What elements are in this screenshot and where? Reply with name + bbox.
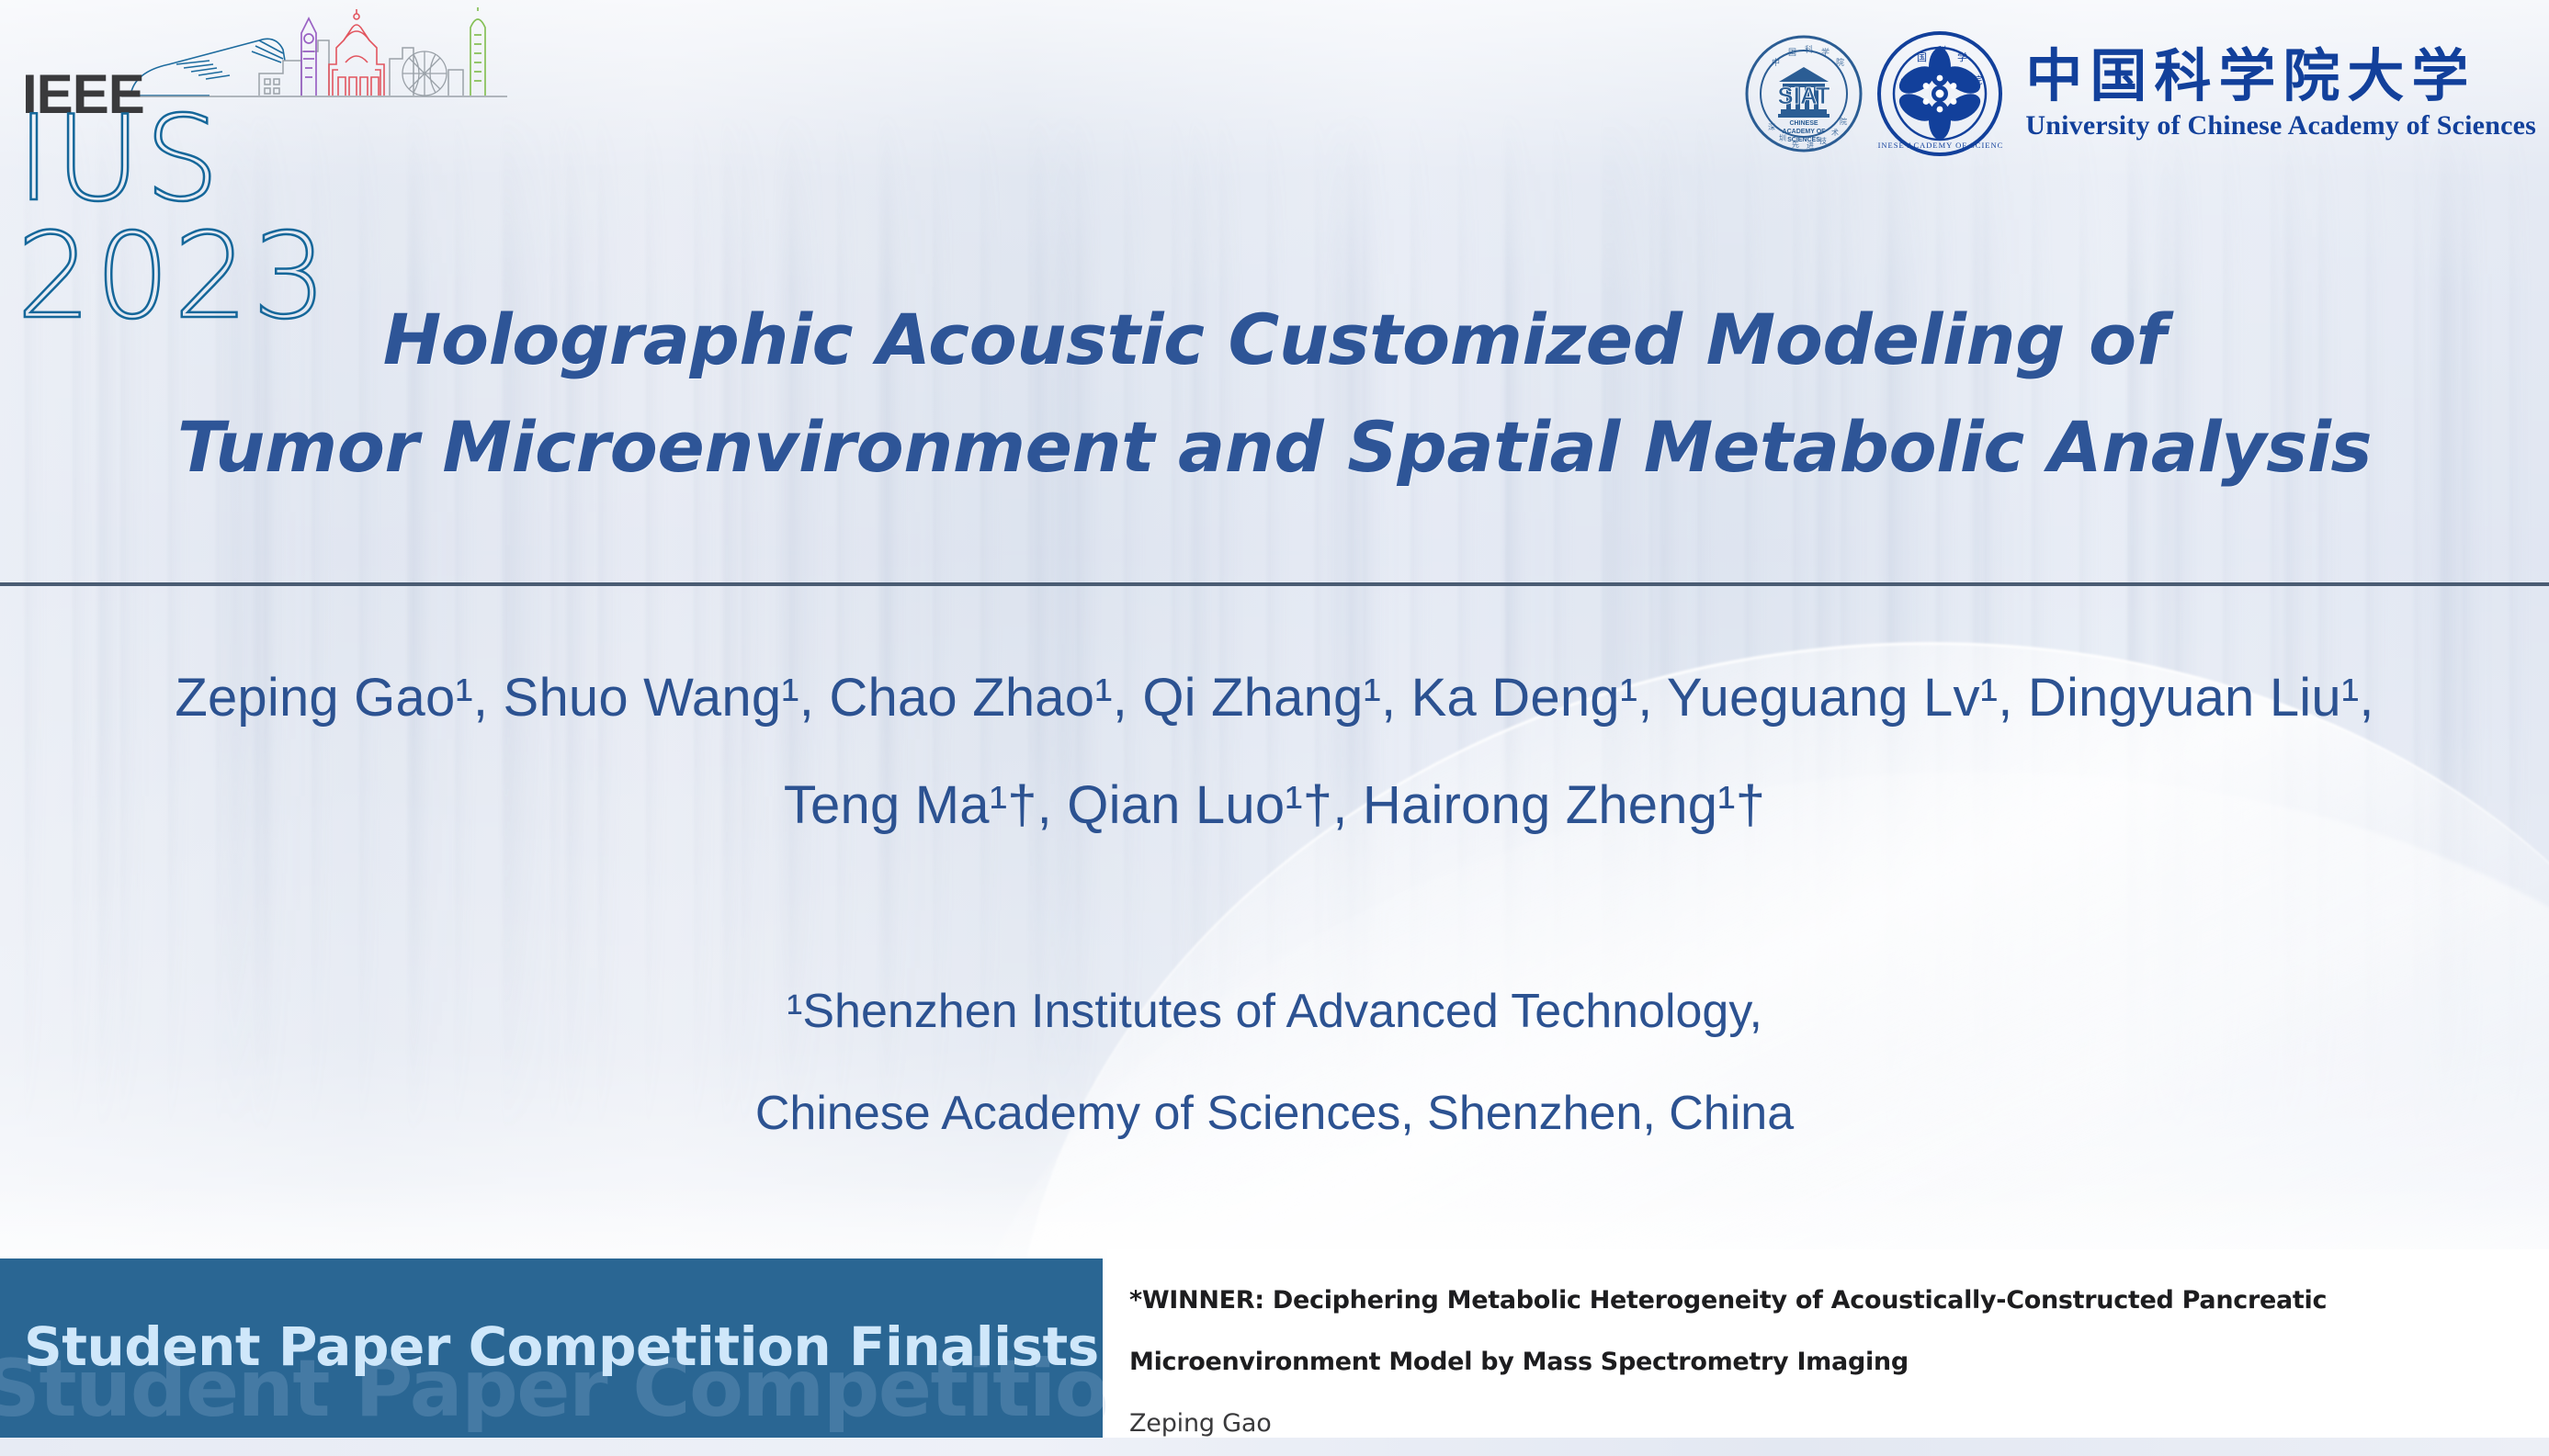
svg-text:国: 国: [1788, 48, 1796, 58]
winner-title-line-2: Microenvironment Model by Mass Spectrome…: [1129, 1349, 2549, 1374]
ucas-name-english: University of Chinese Academy of Science…: [2025, 110, 2536, 141]
svg-text:学: 学: [1821, 47, 1830, 58]
bottom-banner: Student Paper Competition Student Paper …: [0, 1249, 2549, 1456]
title-divider: [0, 582, 2549, 586]
siat-seal-icon: SIAT CHINESE ACADEMY OF SCIENCES 中国科学院 深…: [1744, 34, 1864, 153]
winner-author-name: Zeping Gao: [1129, 1409, 2549, 1438]
svg-text:学: 学: [1957, 51, 1967, 63]
author-line-1: Zeping Gao¹, Shuo Wang¹, Chao Zhao¹, Qi …: [0, 669, 2549, 728]
affiliation-line-1: ¹Shenzhen Institutes of Advanced Technol…: [0, 985, 2549, 1039]
ucas-wordmark: 中国科学院大学 University of Chinese Academy of…: [2025, 46, 2536, 141]
svg-text:CHINESE ACADEMY OF SCIENCES: CHINESE ACADEMY OF SCIENCES: [1876, 141, 2003, 150]
ucas-name-chinese: 中国科学院大学: [2025, 46, 2536, 106]
svg-text:技: 技: [1819, 136, 1827, 145]
cas-flower-seal-icon: 中国科学院 CHINESE ACADEMY OF SCIENCES: [1876, 30, 2003, 157]
svg-text:深: 深: [1768, 123, 1775, 131]
title-line-2: Tumor Microenvironment and Spatial Metab…: [0, 403, 2549, 491]
affiliation-block: ¹Shenzhen Institutes of Advanced Technol…: [0, 985, 2549, 1142]
svg-text:中: 中: [1900, 76, 1910, 88]
institution-logo-bar: SIAT CHINESE ACADEMY OF SCIENCES 中国科学院 深…: [1744, 20, 2536, 167]
svg-text:进: 进: [1807, 141, 1814, 150]
svg-text:ACADEMY OF: ACADEMY OF: [1783, 129, 1827, 135]
svg-text:院: 院: [1972, 73, 1982, 86]
svg-text:院: 院: [1836, 57, 1844, 68]
winner-title-line-1: *WINNER: Deciphering Metabolic Heterogen…: [1129, 1288, 2549, 1313]
affiliation-line-2: Chinese Academy of Sciences, Shenzhen, C…: [0, 1087, 2549, 1141]
svg-text:圳: 圳: [1779, 133, 1786, 142]
session-banner: Student Paper Competition Student Paper …: [0, 1258, 1103, 1447]
svg-text:中: 中: [1772, 57, 1780, 68]
svg-text:术: 术: [1831, 128, 1839, 137]
session-banner-title: Student Paper Competition Finalists: [24, 1315, 1099, 1378]
svg-text:SIAT: SIAT: [1778, 82, 1830, 109]
svg-text:科: 科: [1805, 44, 1813, 55]
svg-text:先: 先: [1792, 140, 1799, 149]
svg-text:院: 院: [1840, 117, 1847, 126]
svg-text:国: 国: [1917, 51, 1927, 63]
author-list: Zeping Gao¹, Shuo Wang¹, Chao Zhao¹, Qi …: [0, 669, 2549, 836]
svg-text:CHINESE: CHINESE: [1790, 120, 1818, 127]
banner-under-strip: [0, 1438, 2549, 1456]
ieee-ius-logo: IEEE IUS 2023: [13, 6, 509, 209]
title-line-1: Holographic Acoustic Customized Modeling…: [0, 296, 2549, 383]
author-line-2: Teng Ma¹†, Qian Luo¹†, Hairong Zheng¹†: [0, 776, 2549, 836]
winner-panel: *WINNER: Deciphering Metabolic Heterogen…: [1107, 1249, 2549, 1439]
svg-text:科: 科: [1937, 44, 1947, 57]
page-title: Holographic Acoustic Customized Modeling…: [0, 296, 2549, 491]
